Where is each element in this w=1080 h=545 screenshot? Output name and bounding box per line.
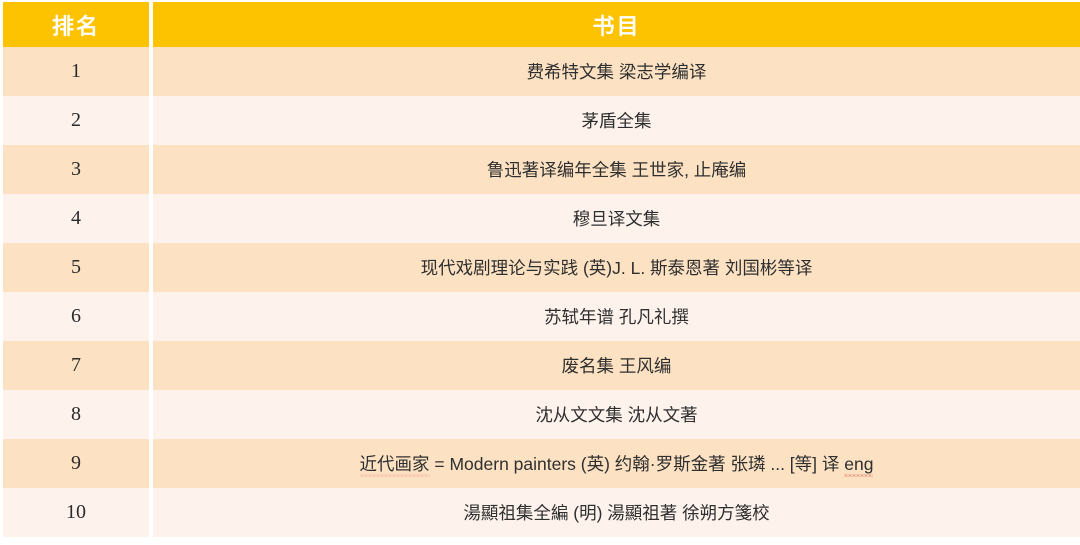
cell-title: 湯顯祖集全編 (明) 湯顯祖著 徐朔方箋校 — [153, 488, 1080, 537]
table-header-row: 排名 书目 — [3, 2, 1080, 47]
book-ranking-table: 排名 书目 1 费希特文集 梁志学编译 2 茅盾全集 3 鲁迅著译编年全集 王世… — [3, 2, 1080, 537]
cell-rank: 8 — [3, 390, 149, 439]
cell-title: 苏轼年谱 孔凡礼撰 — [153, 292, 1080, 341]
cell-rank: 4 — [3, 194, 149, 243]
cell-title: 废名集 王风编 — [153, 341, 1080, 390]
ranking-table-container: 排名 书目 1 费希特文集 梁志学编译 2 茅盾全集 3 鲁迅著译编年全集 王世… — [0, 0, 1080, 545]
cell-title: 现代戏剧理论与实践 (英)J. L. 斯泰恩著 刘国彬等译 — [153, 243, 1080, 292]
cell-rank: 1 — [3, 47, 149, 96]
table-row: 8 沈从文文集 沈从文著 — [3, 390, 1080, 439]
table-header: 排名 书目 — [3, 2, 1080, 47]
cell-rank: 9 — [3, 439, 149, 488]
table-row: 7 废名集 王风编 — [3, 341, 1080, 390]
table-row: 9 近代画家 = Modern painters (英) 约翰·罗斯金著 张璘 … — [3, 439, 1080, 488]
cell-rank: 5 — [3, 243, 149, 292]
cell-title: 穆旦译文集 — [153, 194, 1080, 243]
cell-title-spellchecked: 近代画家 = Modern painters (英) 约翰·罗斯金著 张璘 ..… — [153, 439, 1080, 488]
spellcheck-mark-tail: eng — [844, 454, 873, 474]
column-header-rank: 排名 — [3, 2, 149, 47]
cell-title: 费希特文集 梁志学编译 — [153, 47, 1080, 96]
cell-rank: 6 — [3, 292, 149, 341]
table-body: 1 费希特文集 梁志学编译 2 茅盾全集 3 鲁迅著译编年全集 王世家, 止庵编… — [3, 47, 1080, 537]
column-header-title: 书目 — [153, 2, 1080, 47]
cell-rank: 2 — [3, 96, 149, 145]
cell-rank: 7 — [3, 341, 149, 390]
cell-title: 鲁迅著译编年全集 王世家, 止庵编 — [153, 145, 1080, 194]
table-row: 10 湯顯祖集全編 (明) 湯顯祖著 徐朔方箋校 — [3, 488, 1080, 537]
spellcheck-mark-lead: 近代画家 — [360, 454, 430, 474]
table-row: 4 穆旦译文集 — [3, 194, 1080, 243]
cell-title: 茅盾全集 — [153, 96, 1080, 145]
title-text-middle: = Modern painters (英) 约翰·罗斯金著 张璘 ... [等]… — [430, 454, 845, 474]
table-row: 3 鲁迅著译编年全集 王世家, 止庵编 — [3, 145, 1080, 194]
table-row: 1 费希特文集 梁志学编译 — [3, 47, 1080, 96]
table-row: 6 苏轼年谱 孔凡礼撰 — [3, 292, 1080, 341]
table-row: 5 现代戏剧理论与实践 (英)J. L. 斯泰恩著 刘国彬等译 — [3, 243, 1080, 292]
table-row: 2 茅盾全集 — [3, 96, 1080, 145]
cell-rank: 3 — [3, 145, 149, 194]
cell-title: 沈从文文集 沈从文著 — [153, 390, 1080, 439]
cell-rank: 10 — [3, 488, 149, 537]
